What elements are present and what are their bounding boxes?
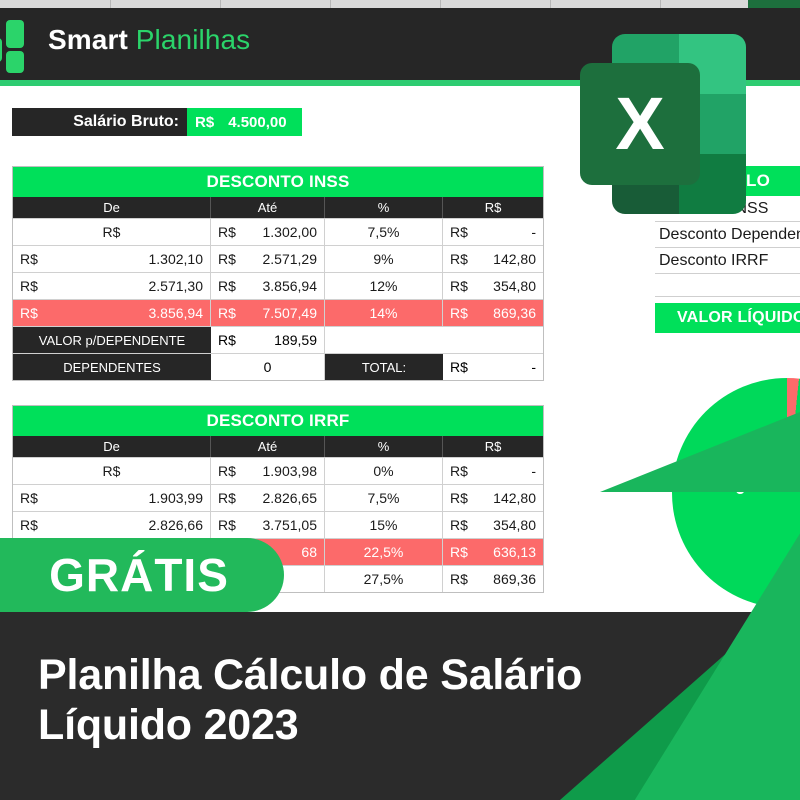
calc-row-blank (655, 274, 800, 297)
table-cell-money: R$354,80 (443, 273, 543, 299)
table-cell-money: R$1.903,98 (211, 458, 325, 484)
calc-net-value-label: VALOR LÍQUIDO (655, 303, 800, 333)
brand-name-light: Planilhas (128, 24, 250, 55)
promo-thumbnail: Smart Planilhas Salário Bruto: R$ 4.500,… (0, 0, 800, 800)
excel-x-tile: X (580, 63, 700, 185)
inss-col-pct: % (325, 197, 443, 218)
strip-green-accent (748, 0, 800, 8)
irrf-col-rs: R$ (443, 436, 543, 457)
table-cell-money: R$ (13, 219, 211, 245)
spreadsheet-column-header-strip (0, 0, 800, 8)
table-cell-money: R$142,80 (443, 246, 543, 272)
brand-name-bold: Smart (48, 24, 128, 55)
gross-salary-value-cell[interactable]: R$ 4.500,00 (187, 108, 302, 136)
table-cell-money: R$3.751,05 (211, 512, 325, 538)
table-cell-pct: 15% (325, 512, 443, 538)
irrf-table-title: DESCONTO IRRF (13, 406, 543, 436)
table-row: R$1.302,10R$2.571,299%R$142,80 (13, 245, 543, 272)
table-cell-money: R$ (13, 458, 211, 484)
table-row: R$R$1.302,007,5%R$- (13, 218, 543, 245)
inss-col-rs: R$ (443, 197, 543, 218)
inss-dependents-input[interactable]: 0 (211, 354, 325, 380)
irrf-table-header-row: De Até % R$ (13, 436, 543, 457)
table-cell-money: R$- (443, 219, 543, 245)
inss-table-title: DESCONTO INSS (13, 167, 543, 197)
table-cell-money: R$142,80 (443, 485, 543, 511)
inss-dependent-value-cell[interactable]: R$189,59 (211, 327, 325, 353)
inss-dependents-label: DEPENDENTES (13, 354, 211, 380)
calc-row-dependente: Desconto Dependente (655, 222, 800, 248)
table-cell-money: R$7.507,49 (211, 300, 325, 326)
table-cell-pct: 9% (325, 246, 443, 272)
table-cell-money: R$1.302,00 (211, 219, 325, 245)
table-row: R$3.856,94R$7.507,4914%R$869,36 (13, 299, 543, 326)
irrf-col-de: De (13, 436, 211, 457)
table-cell-pct: 12% (325, 273, 443, 299)
table-cell-money: R$354,80 (443, 512, 543, 538)
table-cell-money: R$3.856,94 (13, 300, 211, 326)
gratis-badge: GRÁTIS (0, 538, 284, 612)
brand-wordmark: Smart Planilhas (48, 24, 250, 56)
inss-table-header-row: De Até % R$ (13, 197, 543, 218)
inss-dependent-value-label: VALOR p/DEPENDENTE (13, 327, 211, 353)
irrf-col-pct: % (325, 436, 443, 457)
brand-logo[interactable]: Smart Planilhas (0, 16, 200, 74)
table-cell-money: R$2.826,66 (13, 512, 211, 538)
table-cell-money: R$2.571,30 (13, 273, 211, 299)
table-cell-money: R$1.903,99 (13, 485, 211, 511)
table-cell-pct: 7,5% (325, 219, 443, 245)
gross-salary-currency: R$ (195, 114, 214, 131)
table-cell-money: R$2.571,29 (211, 246, 325, 272)
table-cell-pct: 14% (325, 300, 443, 326)
table-cell-money: R$869,36 (443, 566, 543, 592)
inss-dependent-value-row: VALOR p/DEPENDENTE R$189,59 (13, 326, 543, 353)
inss-dependent-currency: R$ (218, 332, 236, 348)
inss-col-ate: Até (211, 197, 325, 218)
gross-salary-row: Salário Bruto: R$ 4.500,00 (12, 108, 302, 136)
table-cell-pct: 22,5% (325, 539, 443, 565)
gross-salary-label: Salário Bruto: (12, 108, 187, 136)
inss-dependents-row: DEPENDENTES 0 TOTAL: R$- (13, 353, 543, 380)
inss-dependent-amount: 189,59 (274, 332, 317, 348)
gross-salary-amount: 4.500,00 (228, 114, 286, 131)
inss-total-label: TOTAL: (325, 354, 443, 380)
page-title: Planilha Cálculo de Salário Líquido 2023 (38, 650, 718, 751)
calc-row-irrf: Desconto IRRF (655, 248, 800, 274)
inss-col-de: De (13, 197, 211, 218)
inss-total-currency: R$ (450, 359, 468, 375)
inss-total-value-cell: R$- (443, 354, 543, 380)
table-cell-pct: 27,5% (325, 566, 443, 592)
table-cell-money: R$3.856,94 (211, 273, 325, 299)
table-row: R$1.903,99R$2.826,657,5%R$142,80 (13, 484, 543, 511)
table-row: R$2.826,66R$3.751,0515%R$354,80 (13, 511, 543, 538)
table-cell-money: R$2.826,65 (211, 485, 325, 511)
inss-total-amount: - (531, 359, 536, 375)
gratis-badge-label: GRÁTIS (19, 548, 229, 602)
excel-letter-x: X (615, 87, 664, 161)
inss-table: DESCONTO INSS De Até % R$ R$R$1.302,007,… (12, 166, 544, 381)
table-cell-money: R$869,36 (443, 300, 543, 326)
table-row: R$2.571,30R$3.856,9412%R$354,80 (13, 272, 543, 299)
table-cell-money: R$- (443, 458, 543, 484)
inss-empty-cell (325, 327, 543, 353)
table-cell-money: R$1.302,10 (13, 246, 211, 272)
microsoft-excel-icon: X (566, 26, 746, 221)
table-cell-money: R$636,13 (443, 539, 543, 565)
table-cell-pct: 7,5% (325, 485, 443, 511)
table-cell-pct: 0% (325, 458, 443, 484)
irrf-col-ate: Até (211, 436, 325, 457)
table-row: R$R$1.903,980%R$- (13, 457, 543, 484)
three-squares-logo-icon (0, 20, 42, 70)
